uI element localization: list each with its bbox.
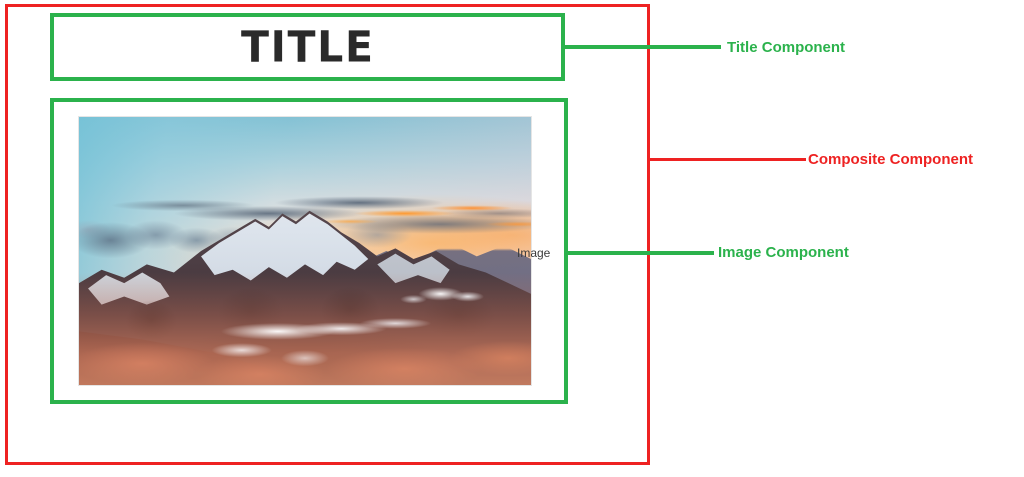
photo-cloud-puff-layer — [79, 117, 531, 385]
image-caption-label: Image — [517, 246, 550, 260]
mountain-photo — [79, 117, 531, 385]
callout-label-composite-component: Composite Component — [808, 152, 973, 167]
title-component-box: TITLE — [50, 13, 565, 81]
leader-line-image-component — [566, 251, 714, 255]
image-component-box — [50, 98, 568, 404]
page-title: TITLE — [241, 26, 375, 69]
diagram-canvas: TITLE Image Title Component Composit — [0, 0, 1024, 477]
leader-line-composite-component — [648, 158, 806, 161]
callout-label-title-component: Title Component — [727, 40, 845, 55]
callout-label-image-component: Image Component — [718, 245, 849, 260]
leader-line-title-component — [563, 45, 721, 49]
